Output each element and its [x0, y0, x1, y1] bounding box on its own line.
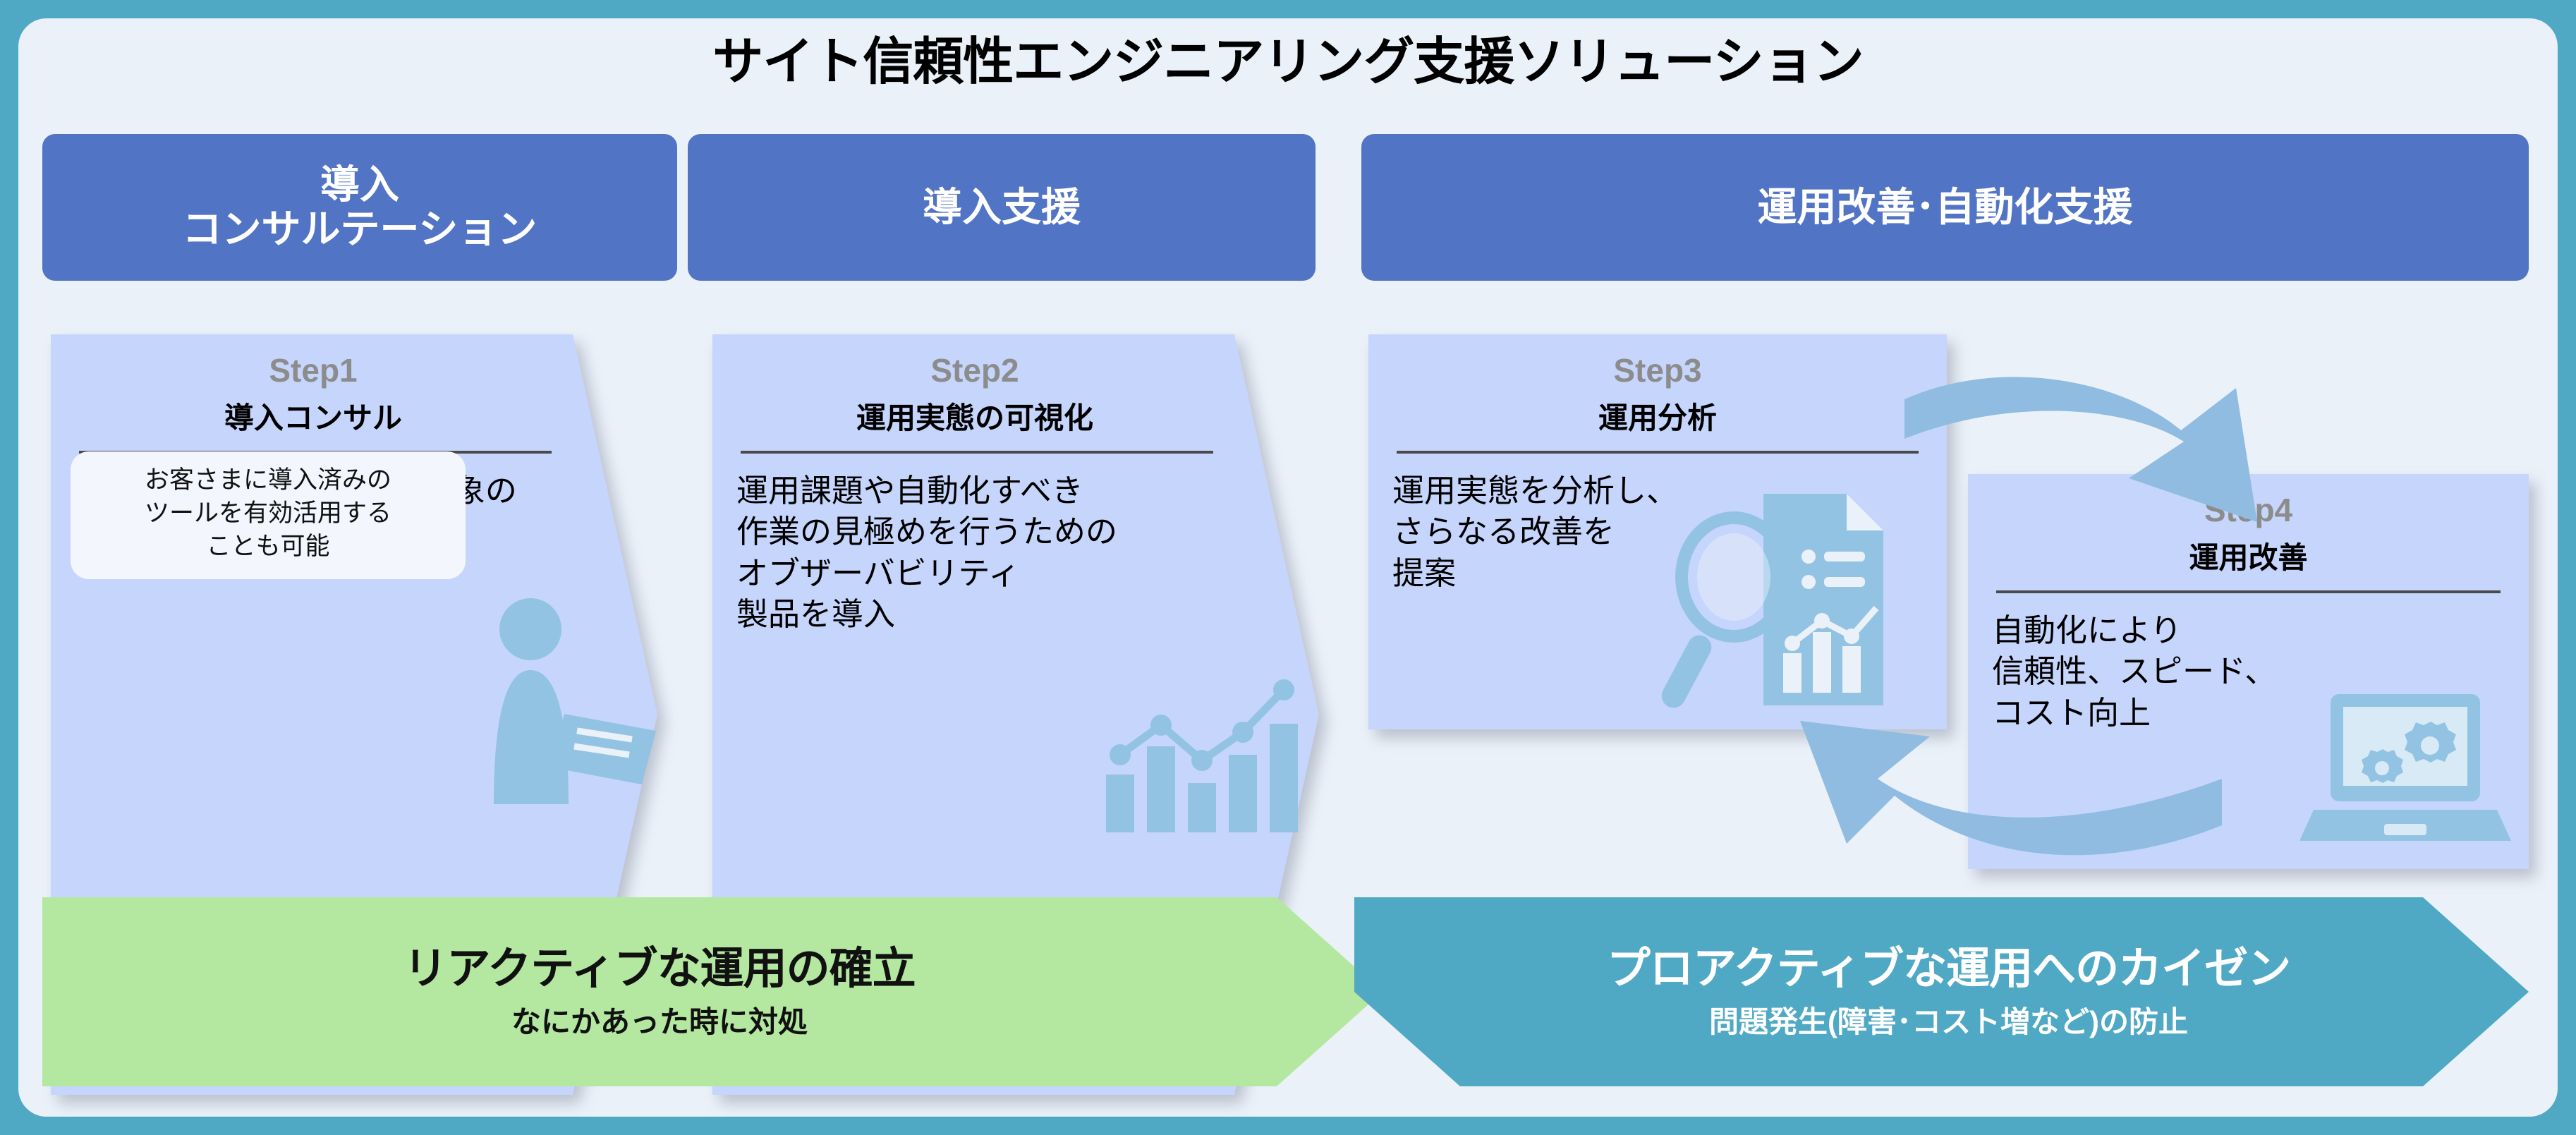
step-4-number: Step4	[1992, 492, 2505, 528]
step-2-divider	[741, 451, 1213, 454]
step-3-title: 運用分析	[1392, 401, 1923, 435]
step-1-number: Step1	[75, 353, 552, 389]
person-reading-icon	[451, 593, 663, 804]
step-2-body: 運用課題や自動化すべき 作業の見極めを行うための オブザーバビリティ 製品を導入	[736, 471, 1213, 636]
step-3-number: Step3	[1392, 353, 1923, 389]
banner-reactive-subtitle: なにかあった時に対処	[511, 1006, 808, 1038]
bar-chart-growth-icon	[1100, 656, 1305, 832]
step-4-divider	[1996, 590, 2501, 593]
banner-proactive-title: プロアクティブな運用へのカイゼン	[1607, 945, 2290, 993]
step-4-title: 運用改善	[1992, 541, 2505, 575]
laptop-gears-icon	[2299, 691, 2511, 854]
banner-reactive[interactable]: リアクティブな運用の確立 なにかあった時に対処	[42, 897, 1383, 1086]
phase-header-label: 導入 コンサルテーション	[183, 163, 537, 251]
step-1-callout: お客さまに導入済みの ツールを有効活用する ことも可能	[71, 451, 466, 579]
step-2-title: 運用実態の可視化	[736, 401, 1213, 435]
phase-header-implementation[interactable]: 導入支援	[688, 134, 1316, 281]
diagram-canvas: サイト信頼性エンジニアリング支援ソリューション 導入 コンサルテーション 導入支…	[0, 0, 2576, 1135]
magnifier-report-icon	[1658, 487, 1897, 712]
phase-header-improvement[interactable]: 運用改善･自動化支援	[1361, 134, 2529, 281]
banner-proactive-subtitle: 問題発生(障害･コスト増など)の防止	[1709, 1006, 2188, 1038]
phase-header-consultation[interactable]: 導入 コンサルテーション	[42, 134, 677, 281]
phase-header-label: 運用改善･自動化支援	[1758, 186, 2133, 230]
step-1-title: 導入コンサル	[75, 401, 552, 435]
page-title: サイト信頼性エンジニアリング支援ソリューション	[0, 20, 2576, 94]
step-2-number: Step2	[736, 353, 1213, 389]
banner-proactive[interactable]: プロアクティブな運用へのカイゼン 問題発生(障害･コスト増など)の防止	[1354, 897, 2529, 1086]
step-3-divider	[1397, 451, 1919, 454]
phase-header-label: 導入支援	[923, 186, 1081, 230]
banner-reactive-title: リアクティブな運用の確立	[403, 945, 915, 993]
